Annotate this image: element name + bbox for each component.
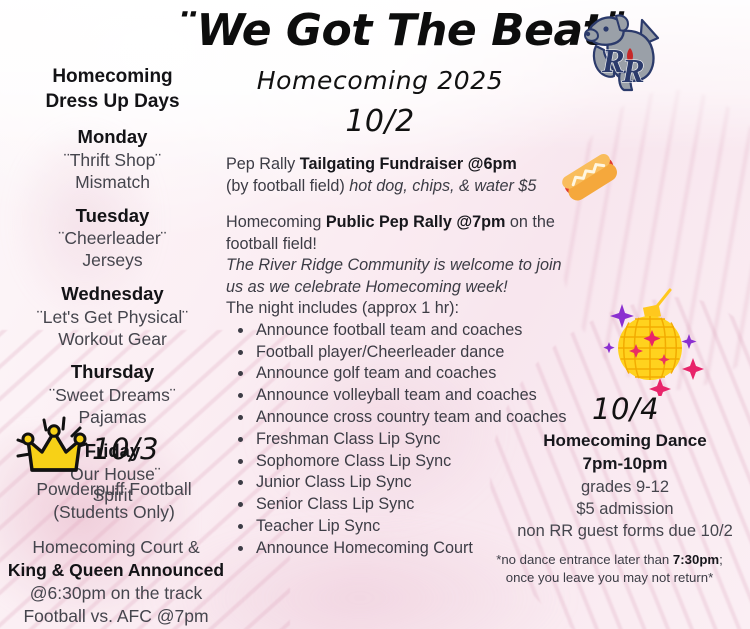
tailgating-bold: Tailgating Fundraiser @6pm xyxy=(300,155,517,173)
flyer-main-date: 10/2 xyxy=(230,104,530,139)
hotdog-icon xyxy=(558,148,620,204)
dress-up-title-line2: Dress Up Days xyxy=(10,89,215,114)
list-item: Announce cross country team and coaches xyxy=(254,407,576,429)
day-name: Monday xyxy=(10,125,215,150)
day-sub: Jerseys xyxy=(10,250,215,272)
day-theme: ¨Thrift Shop¨ xyxy=(10,150,215,172)
dance-title: Homecoming Dance xyxy=(505,430,745,453)
list-item: Announce volleyball team and coaches xyxy=(254,385,576,407)
court-line3: @6:30pm on the track xyxy=(6,582,226,605)
homecoming-dance-block: Homecoming Dance 7pm-10pm grades 9-12 $5… xyxy=(505,430,745,543)
dance-grades: grades 9-12 xyxy=(505,476,745,498)
day-name: Wednesday xyxy=(10,282,215,307)
night-includes-intro: The night includes (approx 1 hr): xyxy=(226,298,576,320)
day-sub: Mismatch xyxy=(10,172,215,194)
dress-up-day-tuesday: Tuesday ¨Cheerleader¨ Jerseys xyxy=(10,204,215,272)
day-theme: ¨Sweet Dreams¨ xyxy=(10,385,215,407)
day-name: Thursday xyxy=(10,360,215,385)
dress-up-title-line1: Homecoming xyxy=(10,64,215,89)
disclaimer-line2: once you leave you may not return* xyxy=(472,569,747,587)
disclaimer-part2: ; xyxy=(719,552,723,567)
court-king-queen: King & Queen Announced xyxy=(6,559,226,582)
dance-date: 10/4 xyxy=(592,392,659,426)
dance-admission: $5 admission xyxy=(505,498,745,520)
flyer-headline: ¨We Got The Beat¨ xyxy=(175,8,575,55)
disclaimer-cutoff-time: 7:30pm xyxy=(673,552,719,567)
dress-up-days-title: Homecoming Dress Up Days xyxy=(10,64,215,114)
bulldog-mascot-icon: R R xyxy=(580,6,672,94)
tailgating-lead: Pep Rally xyxy=(226,155,300,173)
court-line1: Homecoming Court & xyxy=(6,536,226,559)
day-theme: ¨Let's Get Physical¨ xyxy=(10,307,215,329)
dance-guest-forms: non RR guest forms due 10/2 xyxy=(505,520,745,542)
dance-time: 7pm-10pm xyxy=(505,453,745,476)
dance-disclaimer: *no dance entrance later than 7:30pm; on… xyxy=(472,551,747,587)
day-theme: ¨Cheerleader¨ xyxy=(10,228,215,250)
community-welcome-note: The River Ridge Community is welcome to … xyxy=(226,255,576,298)
crown-icon xyxy=(6,414,106,480)
tailgating-line1: Pep Rally Tailgating Fundraiser @6pm xyxy=(226,154,576,176)
homecoming-flyer: ¨We Got The Beat¨ Homecoming 2025 10/2 xyxy=(0,0,750,629)
flyer-subheadline: Homecoming 2025 xyxy=(200,66,560,95)
dress-up-day-monday: Monday ¨Thrift Shop¨ Mismatch xyxy=(10,125,215,193)
powderpuff-line2: (Students Only) xyxy=(8,501,220,524)
homecoming-court-block: Homecoming Court & King & Queen Announce… xyxy=(6,536,226,628)
disco-ball-icon xyxy=(592,288,712,396)
powderpuff-date: 10/3 xyxy=(92,432,159,466)
powderpuff-block: Powderpuff Football (Students Only) xyxy=(8,478,220,524)
day-sub: Workout Gear xyxy=(10,329,215,351)
svg-text:R: R xyxy=(621,53,645,90)
list-item: Announce golf team and coaches xyxy=(254,363,576,385)
tailgating-menu: hot dog, chips, & water $5 xyxy=(349,177,536,195)
public-pep-rally-line: Homecoming Public Pep Rally @7pm on the … xyxy=(226,212,576,255)
dress-up-day-wednesday: Wednesday ¨Let's Get Physical¨ Workout G… xyxy=(10,282,215,350)
tailgating-line2: (by football field) hot dog, chips, & wa… xyxy=(226,176,576,198)
disclaimer-line1: *no dance entrance later than 7:30pm; xyxy=(472,551,747,569)
list-item: Announce football team and coaches xyxy=(254,320,576,342)
public-bold: Public Pep Rally @7pm xyxy=(326,213,506,231)
tailgating-location: (by football field) xyxy=(226,177,349,195)
court-line4: Football vs. AFC @7pm xyxy=(6,605,226,628)
list-item: Football player/Cheerleader dance xyxy=(254,342,576,364)
day-name: Tuesday xyxy=(10,204,215,229)
public-lead: Homecoming xyxy=(226,213,326,231)
disclaimer-part1: *no dance entrance later than xyxy=(496,552,673,567)
powderpuff-line1: Powderpuff Football xyxy=(8,478,220,501)
